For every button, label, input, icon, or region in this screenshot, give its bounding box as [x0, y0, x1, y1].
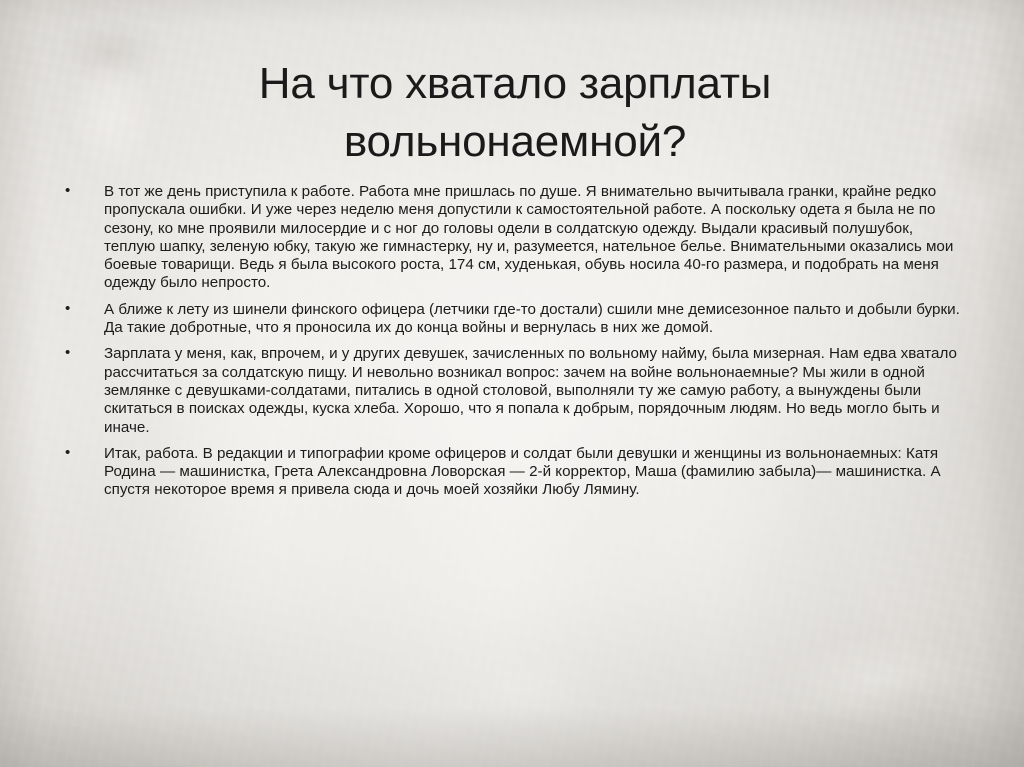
- slide-title-line-1: На что хватало зарплаты: [259, 59, 771, 108]
- slide-title-line-2: вольнонаемной?: [344, 117, 686, 166]
- bullet-item-3: Зарплата у меня, как, впрочем, и у други…: [60, 345, 966, 436]
- bullet-text: В тот же день приступила к работе. Работ…: [104, 183, 953, 291]
- slide-body: В тот же день приступила к работе. Работ…: [60, 183, 966, 508]
- bullet-text: Зарплата у меня, как, впрочем, и у други…: [104, 345, 957, 435]
- bullet-item-4: Итак, работа. В редакции и типографии кр…: [60, 445, 966, 500]
- bullet-item-1: В тот же день приступила к работе. Работ…: [60, 183, 966, 293]
- bullet-list: В тот же день приступила к работе. Работ…: [60, 183, 966, 500]
- bullet-text: А ближе к лету из шинели финского офицер…: [104, 301, 960, 336]
- bullet-item-2: А ближе к лету из шинели финского офицер…: [60, 301, 966, 338]
- bullet-text: Итак, работа. В редакции и типографии кр…: [104, 445, 941, 499]
- presentation-slide: На что хватало зарплаты вольнонаемной? В…: [0, 0, 1024, 767]
- slide-title: На что хватало зарплаты вольнонаемной?: [62, 55, 968, 171]
